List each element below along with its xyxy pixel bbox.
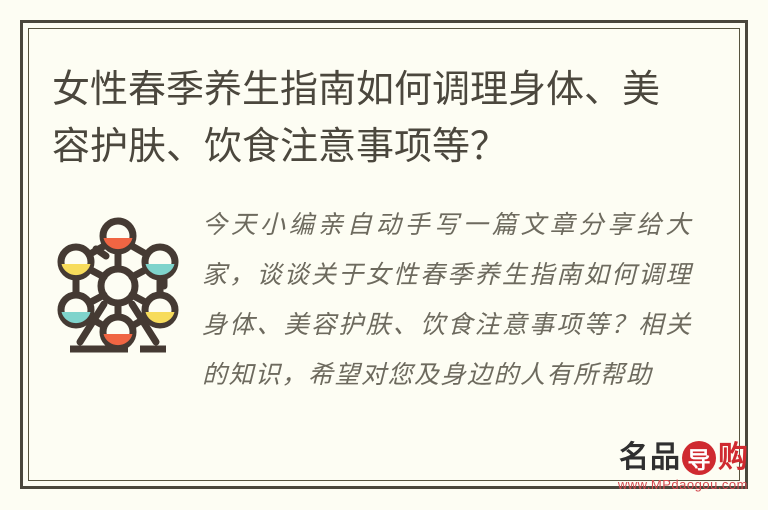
cabin-lower-right	[145, 295, 175, 325]
article-card: 女性春季养生指南如何调理身体、美容护肤、饮食注意事项等？	[0, 0, 768, 510]
article-body: 今天小编亲自动手写一篇文章分享给大家，谈谈关于女性春季养生指南如何调理身体、美容…	[184, 200, 692, 400]
cabin-lower-left	[61, 295, 91, 325]
brand-char-1: 名	[619, 442, 649, 474]
cabin-top	[103, 221, 133, 251]
site-watermark[interactable]: 名 品 导 购 www.MPdaogou.com	[588, 441, 748, 492]
watermark-url: www.MPdaogou.com	[588, 477, 748, 492]
watermark-brand: 名 品 导 购	[588, 441, 748, 475]
article-body-row: 今天小编亲自动手写一篇文章分享给大家，谈谈关于女性春季养生指南如何调理身体、美容…	[52, 200, 692, 400]
brand-char-2: 品	[650, 442, 680, 474]
cabin-upper-left	[61, 247, 91, 277]
ferris-wheel-icon	[54, 208, 182, 353]
page-title: 女性春季养生指南如何调理身体、美容护肤、饮食注意事项等？	[52, 62, 692, 176]
brand-char-3-badge: 导	[682, 441, 716, 475]
illustration-container	[52, 200, 184, 353]
cabin-upper-right	[145, 247, 175, 277]
brand-char-4: 购	[718, 442, 748, 474]
card-content: 女性春季养生指南如何调理身体、美容护肤、饮食注意事项等？	[0, 0, 768, 510]
cabin-bottom	[103, 317, 133, 347]
